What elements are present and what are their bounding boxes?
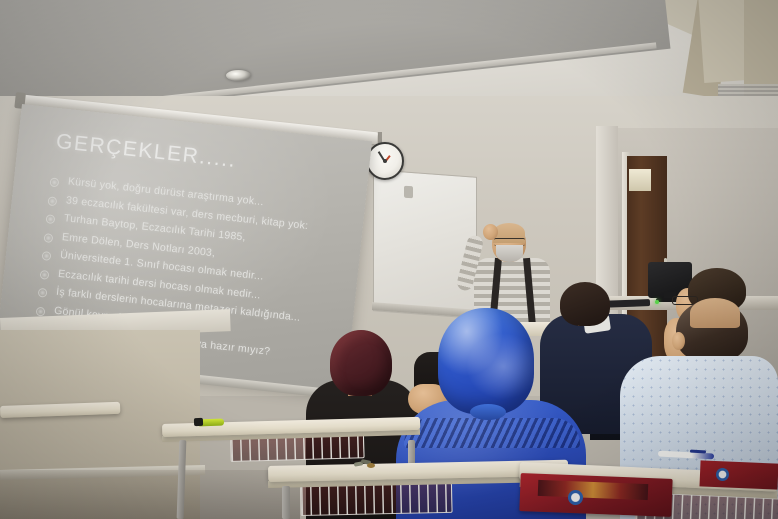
bullet-icon [36, 306, 46, 316]
downlight-icon [226, 70, 251, 81]
bullet-icon [45, 214, 55, 224]
bullet-icon [49, 177, 59, 187]
blue-headscarf [438, 308, 534, 414]
bullet-icon [40, 269, 50, 279]
headscarf-knot [470, 404, 506, 420]
bullet-icon [42, 251, 52, 261]
attendee-scalp [690, 298, 740, 328]
folder-logo-icon [716, 468, 729, 481]
desk-leg [282, 486, 290, 519]
clock-center-pin [383, 159, 387, 163]
floor-shadow [0, 470, 300, 519]
classroom-photo: GERÇEKLER..... Kürsü yok, doğru dürüst a… [0, 0, 778, 519]
attendee-hair [560, 282, 610, 326]
bullet-icon [47, 196, 57, 206]
presenter-beard [496, 245, 523, 262]
highlighter-cap[interactable] [194, 418, 203, 426]
whiteboard-clip [404, 186, 413, 199]
attendee-burgundy-bob-hair [330, 330, 392, 396]
lace-trim [404, 418, 580, 448]
presenter-hand [483, 224, 498, 240]
attendee-ear [672, 332, 685, 350]
whiteboard [373, 169, 477, 319]
desk-wire-basket [300, 483, 453, 516]
red-folder[interactable] [699, 460, 778, 489]
bullet-icon [44, 233, 54, 243]
key-ring[interactable] [354, 459, 376, 470]
power-led-icon [655, 300, 659, 304]
wall-clock-icon [366, 142, 404, 180]
door-transom-glass [629, 169, 651, 191]
bullet-icon [38, 288, 48, 298]
